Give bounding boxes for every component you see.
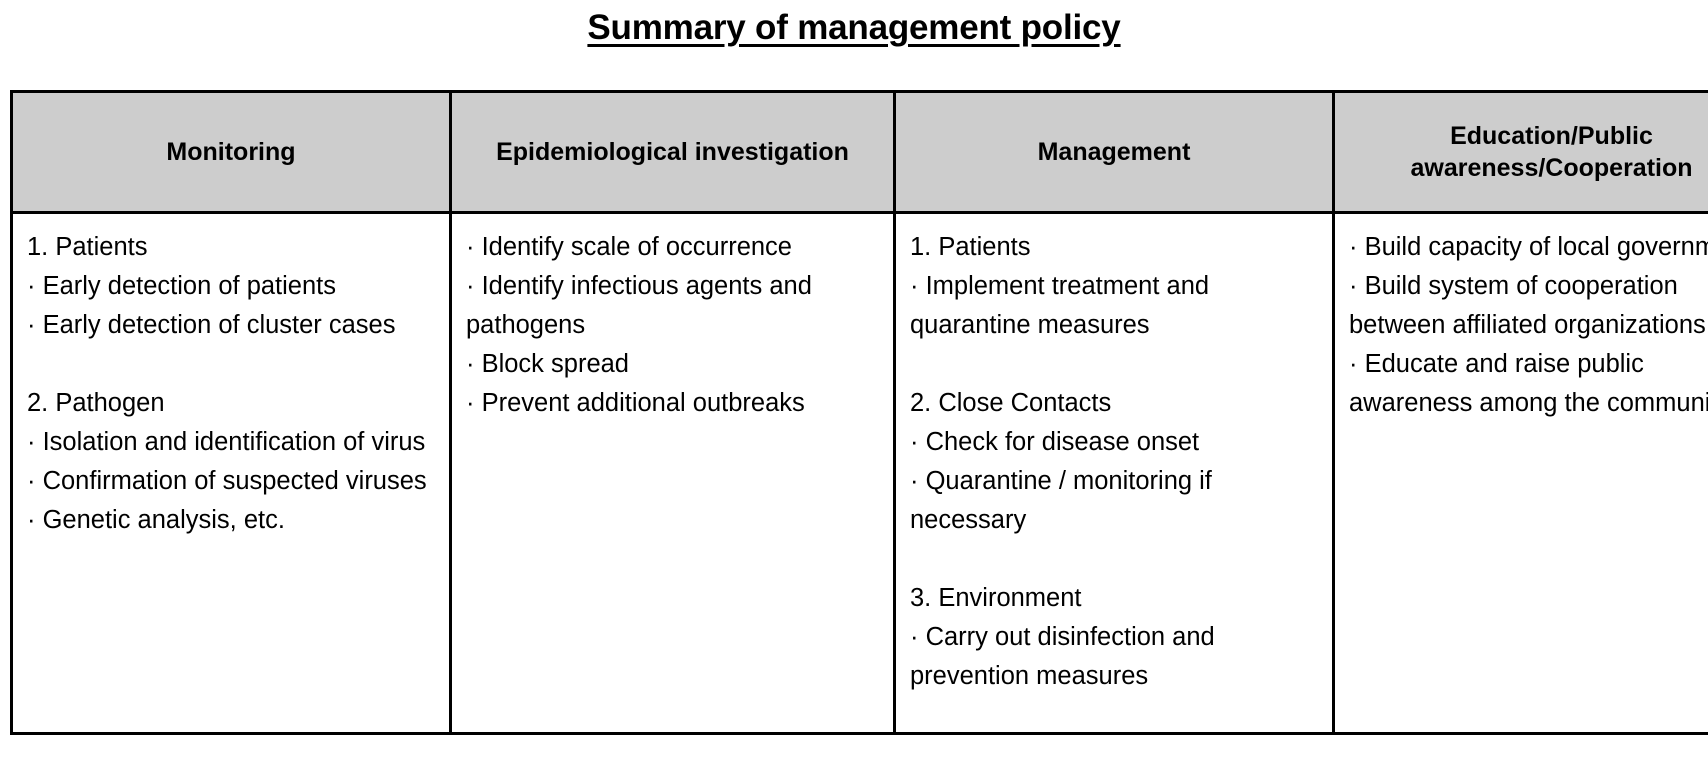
cell-epidemiological-investigation: · Identify scale of occurrence · Identif… [451,213,895,734]
column-header-label: Epidemiological investigation [460,136,885,168]
column-header-epidemiological-investigation: Epidemiological investigation [451,92,895,213]
page-title: Summary of management policy [587,6,1120,50]
cell-content: 1. Patients · Implement treatment and qu… [910,228,1318,696]
cell-education-public-awareness-cooperation: · Build capacity of local government · B… [1334,213,1708,734]
page-title-container: Summary of management policy [0,6,1708,50]
column-header-education-public-awareness-cooperation: Education/Public awareness/Cooperation [1334,92,1708,213]
cell-content: · Identify scale of occurrence · Identif… [466,228,879,423]
cell-management: 1. Patients · Implement treatment and qu… [895,213,1334,734]
cell-content: · Build capacity of local government · B… [1349,228,1708,423]
table-header: Monitoring Epidemiological investigation… [12,92,1708,213]
table-row: 1. Patients · Early detection of patient… [12,213,1708,734]
column-header-monitoring: Monitoring [12,92,451,213]
page-root: Summary of management policy Monitoring … [0,0,1708,768]
table-header-row: Monitoring Epidemiological investigation… [12,92,1708,213]
column-header-management: Management [895,92,1334,213]
column-header-label: Monitoring [21,136,441,168]
column-header-label: Management [904,136,1324,168]
table-body: 1. Patients · Early detection of patient… [12,213,1708,734]
cell-content: 1. Patients · Early detection of patient… [27,228,435,540]
cell-monitoring: 1. Patients · Early detection of patient… [12,213,451,734]
management-policy-table: Monitoring Epidemiological investigation… [10,90,1708,735]
column-header-label: Education/Public awareness/Cooperation [1343,120,1708,184]
